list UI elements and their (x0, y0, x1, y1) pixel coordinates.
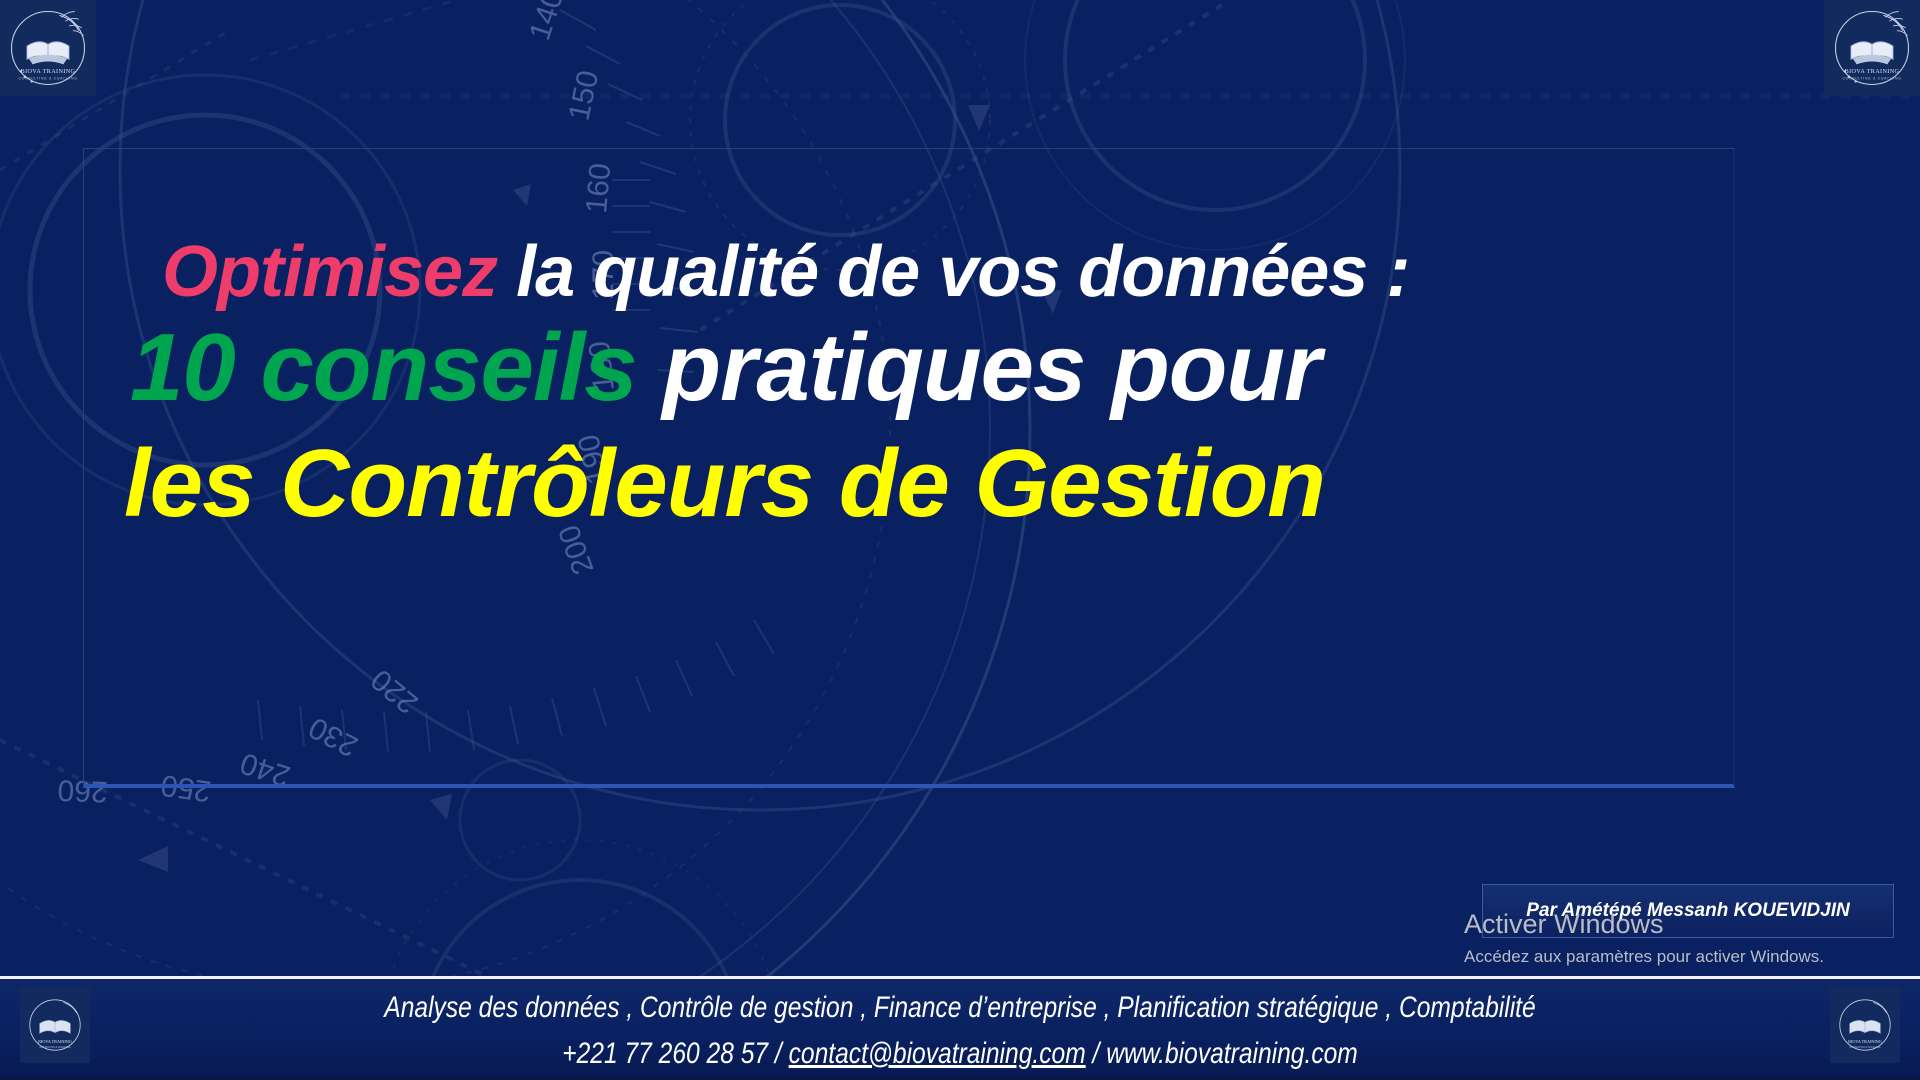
headline-accent-optimisez: Optimisez (162, 232, 497, 312)
headline-accent-10-conseils: 10 conseils (130, 314, 637, 421)
footer-website: www.biovatraining.com (1106, 1037, 1358, 1070)
footer-phone: +221 77 260 28 57 (562, 1037, 768, 1070)
footer-services-text: Analyse des données , Contrôle de gestio… (384, 991, 1535, 1024)
biova-training-logo-icon: BIOVA TRAINING CONSULTING & COACHING (1830, 987, 1900, 1063)
logo-tagline-text: CONSULTING & COACHING (39, 1046, 70, 1049)
headline-line-2-rest: pratiques pour (637, 314, 1321, 421)
gauge-label-150: 150 (563, 68, 606, 124)
headline-line-2: 10 conseils pratiques pour (100, 318, 1800, 418)
logo-name-text: BIOVA TRAINING (38, 1039, 72, 1044)
logo-top-left: BIOVA TRAINING CONSULTING & COACHING (0, 0, 96, 96)
footer-separator-1: / (768, 1037, 789, 1070)
biova-training-logo-icon: BIOVA TRAINING CONSULTING & COACHING (1824, 0, 1920, 96)
page-title: Optimisez la qualité de vos données : 10… (100, 235, 1800, 534)
logo-tagline-text: CONSULTING & COACHING (18, 77, 77, 81)
headline-accent-controleurs: les Contrôleurs de Gestion (124, 430, 1325, 537)
footer-bar: BIOVA TRAINING CONSULTING & COACHING Ana… (0, 976, 1920, 1080)
logo-footer-left: BIOVA TRAINING CONSULTING & COACHING (20, 987, 90, 1063)
headline-line-3: les Contrôleurs de Gestion (100, 434, 1800, 534)
logo-tagline-text: CONSULTING & COACHING (1842, 77, 1901, 81)
gauge-label-140: 140 (523, 0, 570, 44)
logo-name-text: BIOVA TRAINING (1845, 69, 1900, 75)
headline-line-1-rest: la qualité de vos données : (497, 232, 1409, 312)
windows-activation-watermark: Activer Windows Accédez aux paramètres p… (1464, 908, 1904, 970)
logo-footer-right: BIOVA TRAINING CONSULTING & COACHING (1830, 987, 1900, 1063)
headline-line-1: Optimisez la qualité de vos données : (100, 235, 1800, 310)
footer-separator-2: / (1086, 1037, 1107, 1070)
footer-email-link[interactable]: contact@biovatraining.com (789, 1037, 1086, 1070)
logo-name-text: BIOVA TRAINING (21, 69, 76, 75)
biova-training-logo-icon: BIOVA TRAINING CONSULTING & COACHING (20, 987, 90, 1063)
logo-name-text: BIOVA TRAINING (1848, 1039, 1882, 1044)
windows-activation-subtitle: Accédez aux paramètres pour activer Wind… (1464, 944, 1904, 970)
logo-top-right: BIOVA TRAINING CONSULTING & COACHING (1824, 0, 1920, 96)
footer-services-line: Analyse des données , Contrôle de gestio… (173, 991, 1747, 1025)
presentation-slide: 140 150 160 170 180 190 200 220 230 240 … (0, 0, 1920, 1080)
logo-tagline-text: CONSULTING & COACHING (1849, 1046, 1880, 1049)
biova-training-logo-icon: BIOVA TRAINING CONSULTING & COACHING (0, 0, 96, 96)
windows-activation-title: Activer Windows (1464, 908, 1904, 940)
footer-contact-line: +221 77 260 28 57 / contact@biovatrainin… (173, 1037, 1747, 1071)
